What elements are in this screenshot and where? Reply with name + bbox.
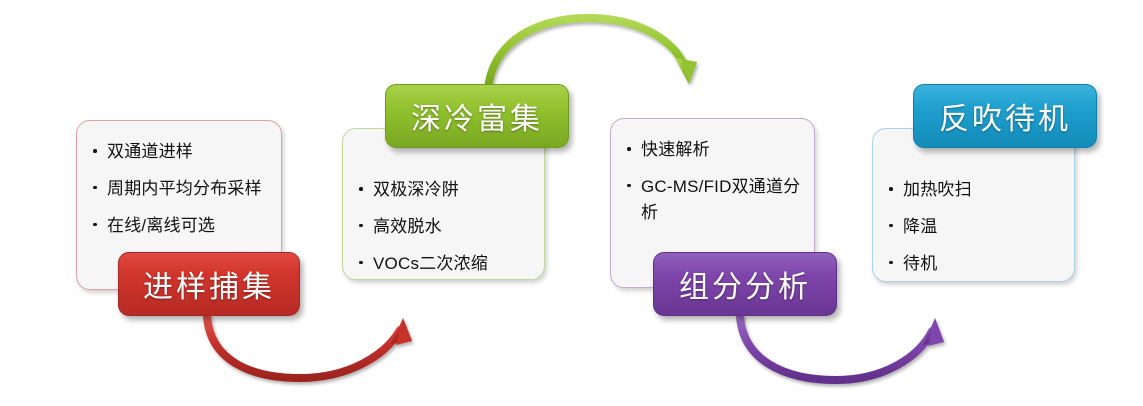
stage-3-bullet-list: 快速解析 GC-MS/FID双通道分析	[611, 119, 814, 225]
arrow-2-to-3	[488, 18, 697, 90]
list-item: 高效脱水	[357, 214, 532, 240]
stage-label-2-text: 深冷富集	[411, 94, 543, 138]
stage-label-4[interactable]: 反吹待机	[913, 84, 1097, 148]
list-item: 降温	[887, 214, 1062, 240]
list-item: 加热吹扫	[887, 177, 1062, 203]
arrow-1-to-2	[207, 316, 412, 378]
stage-label-3-text: 组分分析	[679, 262, 811, 306]
stage-1-bullet-list: 双通道进样 周期内平均分布采样 在线/离线可选	[77, 121, 281, 238]
stage-label-1[interactable]: 进样捕集	[118, 252, 300, 316]
stage-2-bullet-list: 双极深冷阱 高效脱水 VOCs二次浓缩	[343, 129, 544, 276]
list-item: 双极深冷阱	[357, 177, 532, 203]
list-item: 快速解析	[625, 137, 802, 163]
list-item: 周期内平均分布采样	[91, 176, 269, 202]
stage-label-4-text: 反吹待机	[939, 94, 1071, 138]
stage-4-bullet-list: 加热吹扫 降温 待机	[873, 129, 1074, 276]
list-item: 双通道进样	[91, 139, 269, 165]
list-item: 在线/离线可选	[91, 213, 269, 239]
arrow-3-to-4	[740, 316, 944, 380]
list-item: 待机	[887, 251, 1062, 277]
list-item: GC-MS/FID双通道分析	[625, 174, 802, 226]
process-flow-diagram: 双通道进样 周期内平均分布采样 在线/离线可选 双极深冷阱 高效脱水 VOCs二…	[0, 0, 1143, 406]
stage-label-3[interactable]: 组分分析	[653, 252, 837, 316]
stage-label-1-text: 进样捕集	[143, 262, 275, 306]
list-item: VOCs二次浓缩	[357, 251, 532, 277]
stage-card-4: 加热吹扫 降温 待机	[872, 128, 1075, 282]
stage-card-2: 双极深冷阱 高效脱水 VOCs二次浓缩	[342, 128, 545, 280]
stage-label-2[interactable]: 深冷富集	[385, 84, 569, 148]
